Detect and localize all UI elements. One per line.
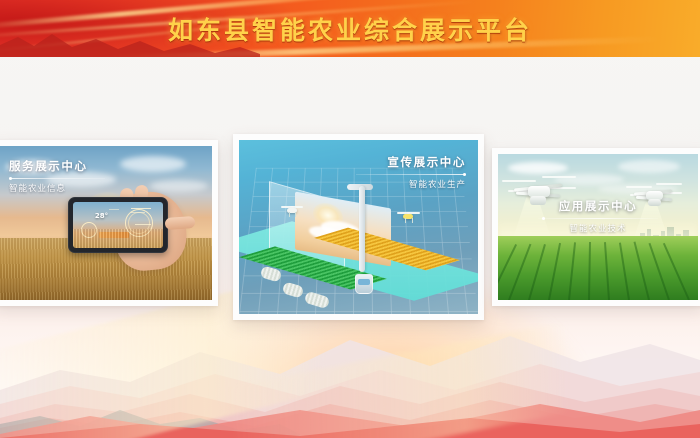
panel-application-image: 应用展示中心 智能农业技术 — [498, 154, 698, 300]
panel-promotion-subheading: 智能农业生产 — [356, 178, 466, 190]
panel-promotion-image: 宣传展示中心 智能农业生产 — [239, 140, 478, 314]
hud-bar — [109, 209, 119, 211]
caption-divider — [9, 178, 105, 179]
caption-divider — [356, 174, 466, 175]
drone-leg — [412, 218, 413, 223]
panel-service-subheading: 智能农业信息 — [9, 182, 105, 194]
cloud-icon — [508, 162, 568, 174]
panel-service-display-center[interactable]: 28° 服务展示中心 智能农业信息 — [0, 140, 218, 306]
caption-divider — [538, 218, 658, 219]
smartphone-device: 28° — [68, 197, 168, 253]
drone-leg — [405, 218, 406, 223]
panel-application-heading: 应用展示中心 — [498, 198, 698, 214]
cloud-icon — [618, 160, 680, 173]
hud-bar — [131, 212, 145, 214]
panel-service-heading: 服务展示中心 — [9, 158, 105, 174]
panel-promotion-heading: 宣传展示中心 — [356, 154, 466, 170]
cloud-icon — [120, 156, 186, 172]
cloud-icon — [150, 180, 208, 192]
rotor-blade — [502, 180, 536, 182]
panel-promotion-display-center[interactable]: 宣传展示中心 智能农业生产 — [233, 134, 484, 320]
water-tank — [355, 274, 373, 294]
smart-lamp-post — [359, 186, 365, 272]
phone-temperature-readout: 28° — [95, 212, 108, 220]
thumb — [165, 216, 196, 230]
app-root: 如东县智能农业综合展示平台 28° — [0, 0, 700, 438]
drone-leg — [295, 212, 296, 217]
rotor-blade — [626, 186, 652, 188]
rotor-blade — [656, 183, 682, 185]
page-title: 如东县智能农业综合展示平台 — [0, 0, 700, 57]
hud-bar — [135, 224, 151, 226]
panel-application-caption: 应用展示中心 智能农业技术 — [498, 198, 698, 234]
panel-service-image: 28° 服务展示中心 智能农业信息 — [0, 146, 212, 300]
phone-screen: 28° — [73, 202, 163, 248]
panel-promotion-caption: 宣传展示中心 智能农业生产 — [356, 154, 466, 190]
rotor-blade — [542, 176, 576, 178]
panel-application-display-center[interactable]: 应用展示中心 智能农业技术 — [492, 148, 700, 306]
hud-ring-small-icon — [81, 222, 97, 238]
hud-ring-inner-icon — [128, 212, 150, 234]
panel-application-subheading: 智能农业技术 — [498, 222, 698, 234]
crop-row-lines — [498, 236, 698, 300]
drone-leg — [289, 212, 290, 217]
phone-status-chip — [99, 232, 129, 238]
panel-service-caption: 服务展示中心 智能农业信息 — [9, 158, 105, 194]
hud-bar — [131, 208, 151, 210]
